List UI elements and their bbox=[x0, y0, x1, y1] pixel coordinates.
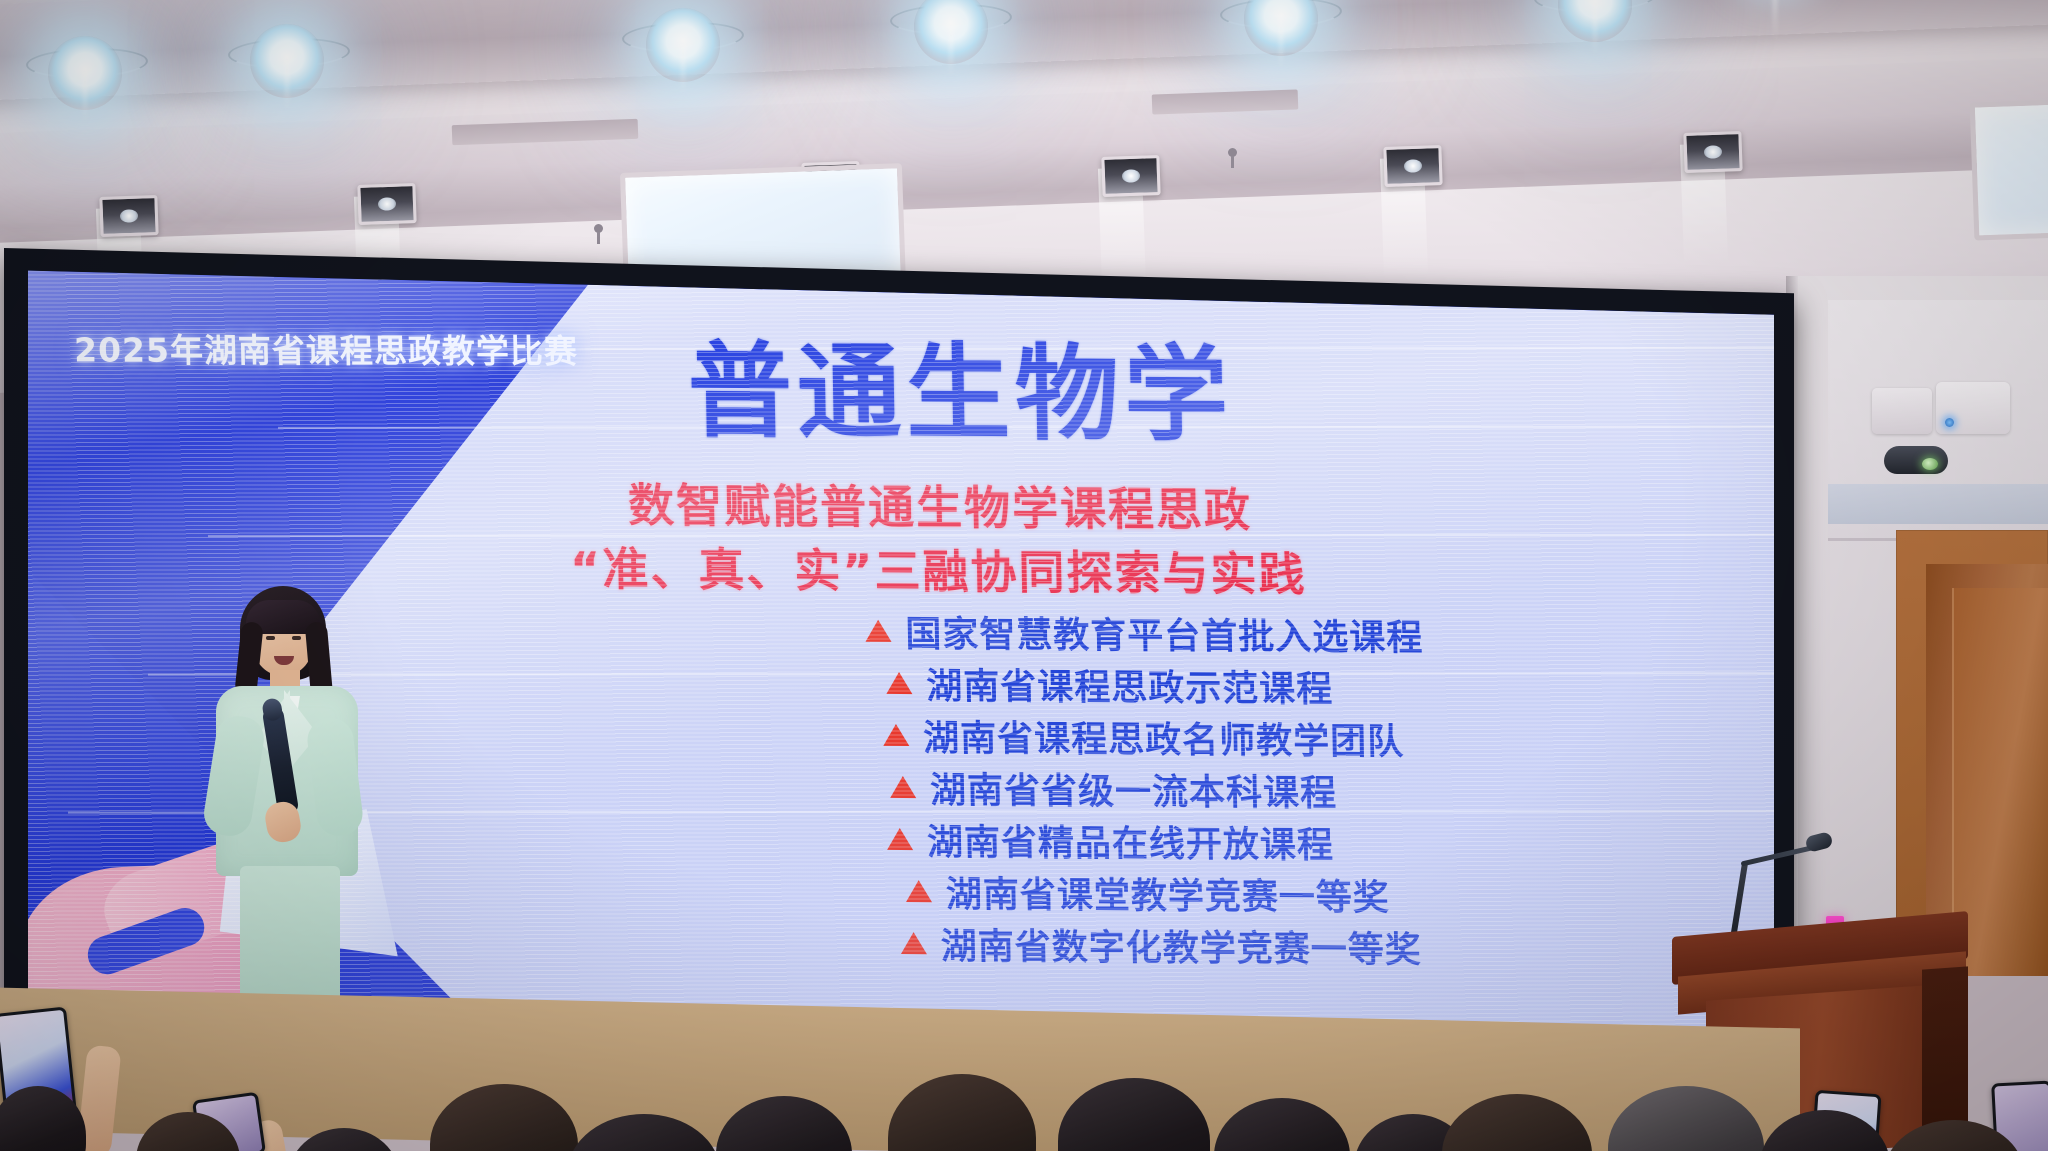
audience-head bbox=[1442, 1094, 1592, 1151]
audience-head bbox=[1214, 1098, 1350, 1151]
slide-title: 普通生物学 bbox=[687, 338, 1234, 448]
list-item: 国家智慧教育平台首批入选课程 bbox=[865, 605, 1424, 661]
list-item: 湖南省课程思政示范课程 bbox=[886, 657, 1425, 713]
list-item-label: 湖南省数字化教学竞赛一等奖 bbox=[940, 917, 1422, 973]
list-item: 湖南省课程思政名师教学团队 bbox=[883, 709, 1426, 765]
audience-head bbox=[288, 1128, 400, 1151]
presenter bbox=[212, 586, 362, 1006]
recessed-downlight bbox=[1383, 145, 1442, 187]
list-item-label: 湖南省课程思政示范课程 bbox=[926, 657, 1334, 712]
audience-head bbox=[1608, 1086, 1764, 1151]
ceiling-diffuser-panel bbox=[1970, 97, 2048, 240]
triangle-up-icon bbox=[886, 672, 912, 694]
triangle-up-icon bbox=[887, 828, 913, 850]
lecture-hall-photo: 2025年湖南省课程思政教学比赛 普通生物学 数智赋能普通生物学课程思政 “准、… bbox=[0, 0, 2048, 1151]
wall-camera bbox=[1884, 446, 1948, 474]
triangle-up-icon bbox=[883, 724, 909, 746]
presenter-skirt bbox=[240, 866, 340, 1006]
presenter-eye-left bbox=[266, 636, 275, 640]
ceiling-spotlight bbox=[250, 24, 324, 98]
recessed-downlight bbox=[1683, 131, 1742, 173]
wall-equipment-box bbox=[1872, 388, 1932, 434]
list-item-label: 湖南省省级一流本科课程 bbox=[930, 761, 1338, 816]
recessed-downlight bbox=[99, 195, 158, 237]
recessed-downlight bbox=[357, 183, 416, 225]
list-item-label: 国家智慧教育平台首批入选课程 bbox=[905, 605, 1424, 661]
audience-head bbox=[1058, 1078, 1210, 1151]
wall-control-unit bbox=[1936, 382, 2010, 434]
sprinkler-head bbox=[594, 224, 603, 233]
triangle-up-icon bbox=[906, 880, 932, 902]
list-item-label: 湖南省课程思政名师教学团队 bbox=[923, 709, 1405, 765]
audience-head bbox=[716, 1096, 852, 1151]
slide-subtitle-line-1: 数智赋能普通生物学课程思政 bbox=[627, 469, 1252, 540]
presenter-eye-right bbox=[292, 636, 301, 640]
sprinkler-head bbox=[1228, 148, 1237, 157]
slide-achievement-list: 国家智慧教育平台首批入选课程 湖南省课程思政示范课程 湖南省课程思政名师教学团队… bbox=[865, 605, 1429, 973]
list-item: 湖南省数字化教学竞赛一等奖 bbox=[900, 917, 1429, 973]
slide-subtitle-line-2: “准、真、实”三融协同探索与实践 bbox=[569, 533, 1307, 605]
triangle-up-icon bbox=[890, 776, 916, 798]
triangle-up-icon bbox=[865, 620, 891, 642]
audience-head bbox=[430, 1084, 578, 1151]
list-item: 湖南省课堂教学竞赛一等奖 bbox=[905, 865, 1428, 921]
triangle-up-icon bbox=[901, 932, 927, 954]
list-item: 湖南省精品在线开放课程 bbox=[886, 813, 1427, 869]
list-item: 湖南省省级一流本科课程 bbox=[890, 761, 1427, 817]
slide-event-banner: 2025年湖南省课程思政教学比赛 bbox=[74, 323, 579, 372]
ceiling-spotlight bbox=[48, 36, 122, 110]
list-item-label: 湖南省精品在线开放课程 bbox=[926, 813, 1334, 868]
recessed-downlight bbox=[1101, 155, 1160, 197]
ceiling-spotlight bbox=[646, 8, 720, 82]
audience bbox=[0, 1000, 2048, 1151]
wall-accent-strip bbox=[1828, 484, 2048, 524]
list-item-label: 湖南省课堂教学竞赛一等奖 bbox=[945, 865, 1390, 921]
audience-head bbox=[888, 1074, 1036, 1151]
audience-head bbox=[568, 1114, 720, 1151]
